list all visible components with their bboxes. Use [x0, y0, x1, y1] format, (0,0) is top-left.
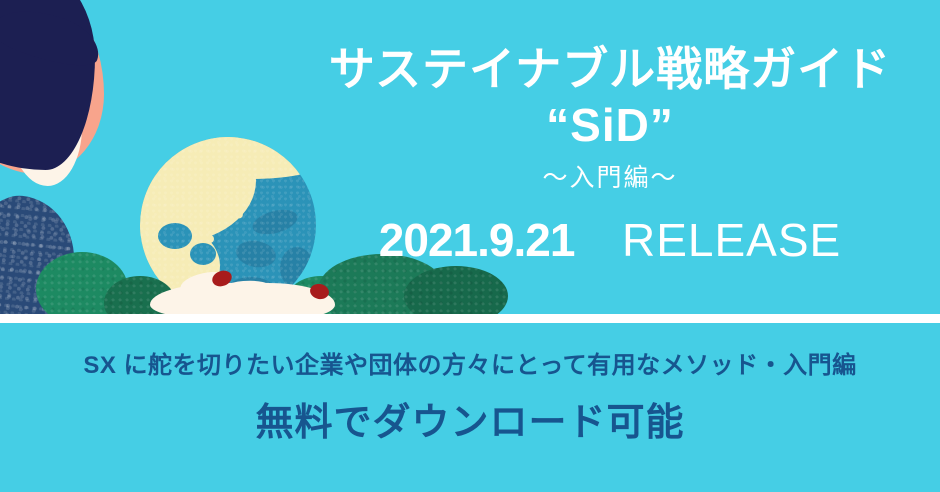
- globe-island-d: [206, 235, 214, 243]
- headline-primary: サステイナブル戦略ガイド: [300, 42, 920, 96]
- message-band: SX に舵を切りたい企業や団体の方々にとって有用なメソッド・入門編 無料でダウン…: [0, 323, 940, 492]
- globe-ocean-shade-a: [250, 205, 300, 238]
- globe-landmass-northwest: [140, 137, 256, 243]
- release-label: RELEASE: [622, 214, 841, 266]
- hand-holding-globe: [150, 273, 335, 314]
- globe-inland-sea-b: [190, 243, 216, 265]
- globe-ocean-shade-b: [234, 238, 278, 271]
- bush-right-small: [404, 266, 508, 314]
- globe-island-c: [214, 217, 223, 226]
- sustainable-strategy-guide-banner: サステイナブル戦略ガイド “SiD” 〜入門編〜 2021.9.21 RELEA…: [0, 0, 940, 492]
- section-divider: [0, 314, 940, 323]
- band-description: SX に舵を切りたい企業や団体の方々にとって有用なメソッド・入門編: [0, 345, 940, 380]
- release-date: 2021.9.21: [379, 214, 575, 266]
- illustration-stage: サステイナブル戦略ガイド “SiD” 〜入門編〜 2021.9.21 RELEA…: [0, 0, 940, 314]
- band-download-callout: 無料でダウンロード可能: [0, 391, 940, 446]
- release-date-line: 2021.9.21 RELEASE: [300, 213, 920, 267]
- headline-product-name: “SiD”: [300, 98, 920, 152]
- globe-island-a: [220, 187, 240, 210]
- globe-landmass-north: [198, 137, 316, 179]
- globe-inland-sea-a: [158, 223, 192, 249]
- headline-subtitle: 〜入門編〜: [300, 158, 920, 194]
- globe-island-b: [229, 202, 246, 221]
